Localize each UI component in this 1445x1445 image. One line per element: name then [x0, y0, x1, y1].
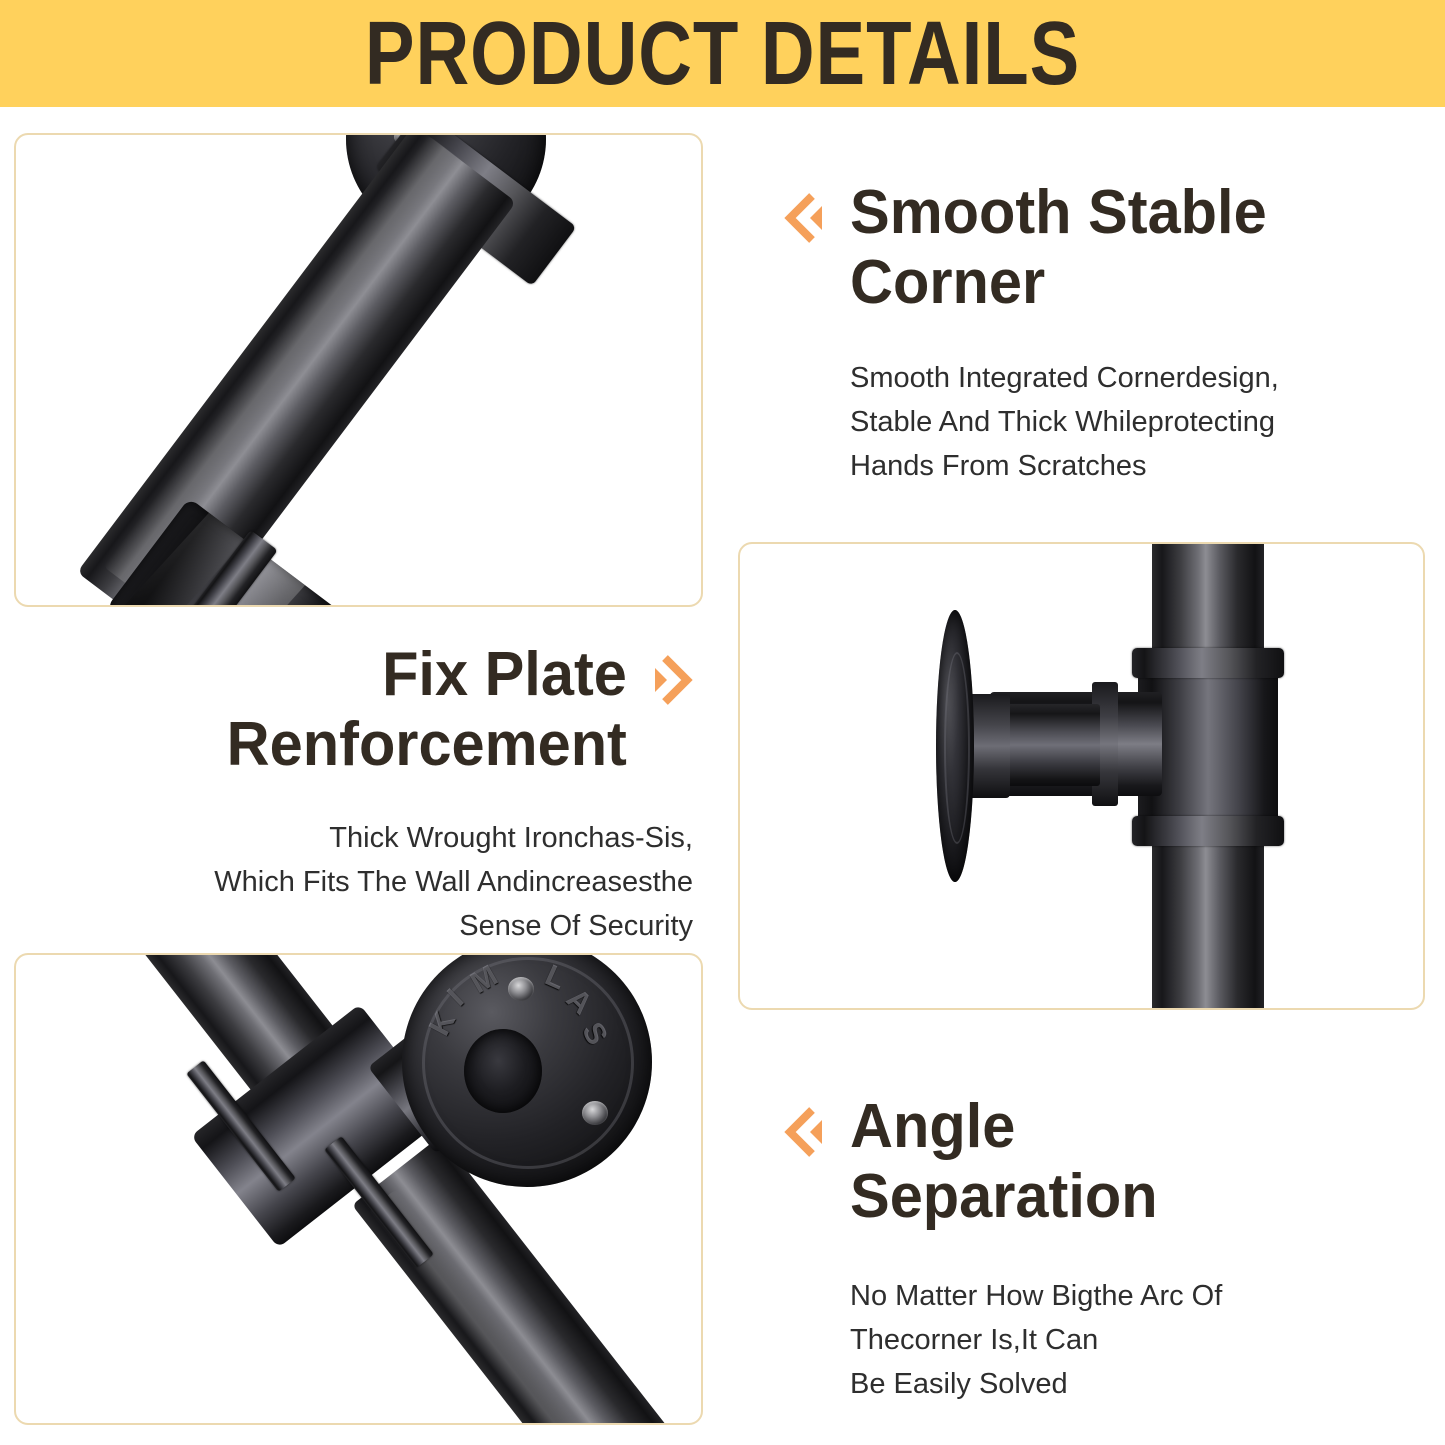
tee-fitting-flange-photo [738, 542, 1425, 1010]
pipe-collar-top [1132, 648, 1284, 678]
feature-description: Thick Wrought Ironchas-Sis, Which Fits T… [110, 816, 693, 948]
feature-fix-plate-renforcement: Fix Plate Renforcement Thick Wrought Iro… [110, 640, 695, 948]
photo-stage [740, 544, 1423, 1008]
chevron-double-right-icon [649, 654, 695, 706]
chevron-double-left-icon [782, 192, 828, 244]
bolt-hole-icon [582, 1101, 608, 1125]
feature-title: Fix Plate Renforcement [227, 640, 627, 780]
chevron-double-left-icon [782, 1106, 828, 1158]
feature-title: Smooth Stable Corner [850, 178, 1267, 318]
pipe-highlight [103, 135, 465, 594]
photo-stage [16, 135, 701, 605]
pipe-collar-bottom [1132, 816, 1284, 846]
page-title: PRODUCT DETAILS [365, 9, 1080, 99]
feature-angle-separation: Angle Separation No Matter How Bigthe Ar… [782, 1092, 1382, 1406]
feature-heading-row: Fix Plate Renforcement [110, 640, 695, 780]
feature-smooth-stable-corner: Smooth Stable Corner Smooth Integrated C… [782, 178, 1382, 488]
pipe-end-cap-photo [14, 133, 703, 607]
wall-flange-inner-ring [944, 652, 970, 844]
feature-heading-row: Smooth Stable Corner [782, 178, 1382, 318]
photo-stage: K I M L A S [16, 955, 701, 1423]
angled-tee-flange-photo: K I M L A S [14, 953, 703, 1425]
feature-description: Smooth Integrated Cornerdesign, Stable A… [850, 356, 1382, 488]
header-banner: PRODUCT DETAILS [0, 0, 1445, 107]
feature-heading-row: Angle Separation [782, 1092, 1382, 1232]
bolt-hole-icon [508, 977, 534, 1001]
feature-description: No Matter How Bigthe Arc Of Thecorner Is… [850, 1274, 1382, 1406]
flange-bore [464, 1029, 542, 1113]
feature-title: Angle Separation [850, 1092, 1158, 1232]
